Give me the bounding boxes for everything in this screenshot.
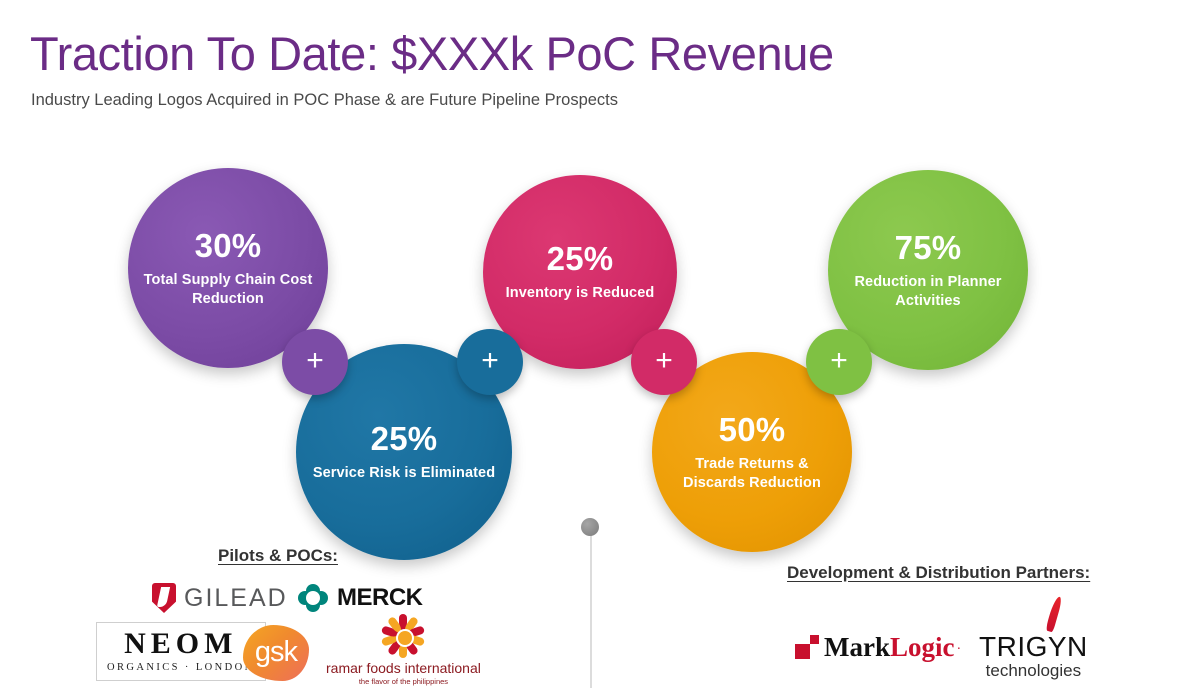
metric-percent: 30% <box>195 228 262 264</box>
metric-caption: Inventory is Reduced <box>492 284 669 303</box>
plus-icon-connector-pink: + <box>631 329 697 395</box>
plus-symbol: + <box>306 346 324 376</box>
logo-gsk: gsk <box>243 625 309 681</box>
metric-caption: Total Supply Chain Cost Reduction <box>128 271 328 309</box>
metric-caption: Service Risk is Eliminated <box>299 464 509 483</box>
gilead-wordmark: GILEAD <box>184 584 288 613</box>
slide-canvas: Traction To Date: $XXXk PoC Revenue Indu… <box>0 0 1200 688</box>
merck-clover-icon <box>298 584 328 612</box>
ramar-wordmark: ramar foods international <box>326 660 481 676</box>
metric-percent: 25% <box>547 241 614 277</box>
plus-icon-connector-purple: + <box>282 329 348 395</box>
plus-icon-connector-green: + <box>806 329 872 395</box>
trigyn-slash-icon <box>1046 596 1064 633</box>
metric-caption: Trade Returns & Discards Reduction <box>652 455 852 493</box>
partners-heading: Development & Distribution Partners: <box>787 563 1090 583</box>
plus-symbol: + <box>830 346 848 376</box>
trigyn-wordmark: TRIGYN <box>979 633 1088 661</box>
gsk-wordmark: gsk <box>255 636 297 669</box>
pin-knob-icon <box>581 518 599 536</box>
plus-symbol: + <box>655 346 673 376</box>
marklogic-wordmark-dark: Mark <box>824 632 890 663</box>
neom-wordmark: NEOM <box>124 629 237 659</box>
pilots-heading: Pilots & POCs: <box>218 546 338 566</box>
merck-wordmark: MERCK <box>337 584 423 612</box>
metric-percent: 75% <box>895 230 962 266</box>
logo-merck: MERCK <box>298 584 423 612</box>
neom-tagline: ORGANICS · LONDON <box>107 662 255 673</box>
plus-icon-connector-blue: + <box>457 329 523 395</box>
metric-percent: 50% <box>719 412 786 448</box>
metric-caption: Reduction in Planner Activities <box>828 273 1028 311</box>
ramar-tagline: the flavor of the philippines <box>359 677 448 686</box>
logo-trigyn: TRIGYN technologies <box>979 596 1088 680</box>
plus-symbol: + <box>481 346 499 376</box>
divider-line <box>590 534 592 688</box>
marklogic-wordmark-accent: Logic <box>890 632 955 663</box>
gsk-blob-icon: gsk <box>243 625 309 681</box>
marklogic-trademark-dot: · <box>956 642 961 658</box>
metric-percent: 25% <box>371 421 438 457</box>
logo-neom: NEOM ORGANICS · LONDON <box>96 622 266 681</box>
ramar-sunburst-icon <box>378 614 428 658</box>
page-title: Traction To Date: $XXXk PoC Revenue <box>30 25 834 83</box>
gilead-shield-icon <box>152 583 176 613</box>
logo-marklogic: Mark Logic · <box>795 632 961 663</box>
logo-ramar-foods: ramar foods international the flavor of … <box>326 614 481 686</box>
trigyn-tagline: technologies <box>986 661 1081 680</box>
logo-gilead: GILEAD <box>152 583 288 613</box>
page-subtitle: Industry Leading Logos Acquired in POC P… <box>31 88 618 112</box>
marklogic-squares-icon <box>795 635 821 661</box>
